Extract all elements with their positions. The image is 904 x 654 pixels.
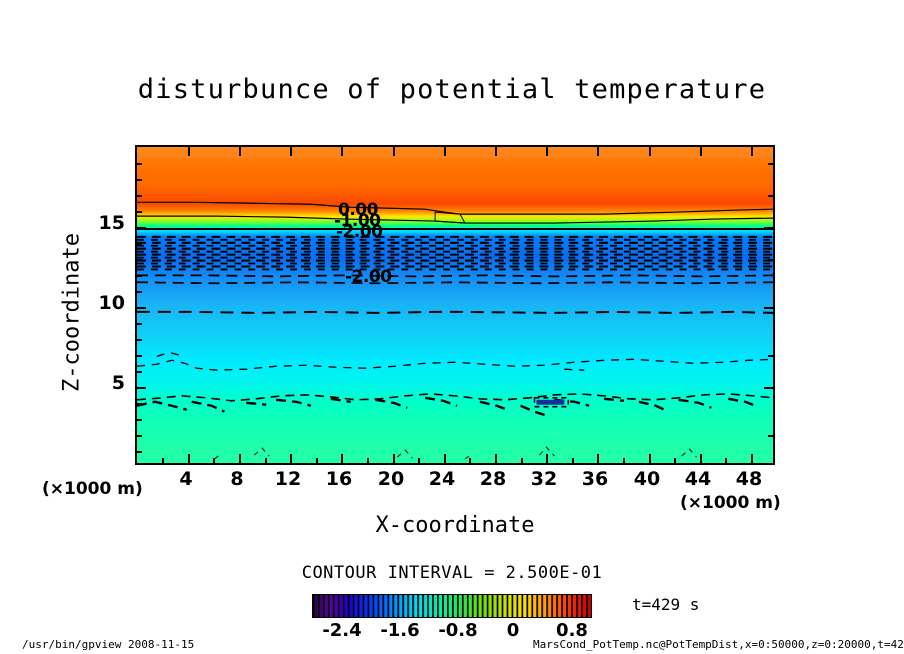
y-tick-minor <box>137 419 142 421</box>
x-tick-top <box>239 147 241 156</box>
y-tick-minor <box>137 323 142 325</box>
y-tick-label: 10 <box>95 292 125 314</box>
contour-plot-area <box>135 145 775 465</box>
x-tick-minor <box>572 458 574 463</box>
y-tick-right <box>764 227 773 229</box>
x-tick <box>700 454 702 463</box>
x-tick-top <box>546 147 548 156</box>
y-tick-minor <box>137 371 142 373</box>
y-tick-minor <box>137 211 142 213</box>
x-axis-unit: (×1000 m) <box>680 493 781 513</box>
y-tick-right-minor <box>768 195 773 197</box>
x-tick-top <box>700 147 702 156</box>
x-tick-top <box>188 147 190 156</box>
x-tick-minor <box>162 458 164 463</box>
colorbar-tick-label: -1.6 <box>370 620 430 641</box>
x-tick <box>444 454 446 463</box>
x-tick <box>188 454 190 463</box>
contour-label: -2.00 <box>336 222 383 242</box>
y-tick <box>137 227 146 229</box>
colorbar <box>312 594 592 618</box>
x-tick-minor <box>725 458 727 463</box>
x-tick-minor <box>469 458 471 463</box>
x-tick-minor <box>674 458 676 463</box>
y-tick-right-minor <box>768 435 773 437</box>
contour-interval-text: CONTOUR INTERVAL = 2.500E-01 <box>0 563 904 583</box>
x-tick <box>239 454 241 463</box>
colorbar-tick-label: -2.4 <box>312 620 372 641</box>
x-tick-top <box>751 147 753 156</box>
y-tick-minor <box>137 179 142 181</box>
y-tick-right <box>764 307 773 309</box>
x-tick-label: 16 <box>309 468 369 490</box>
y-tick-minor <box>137 435 142 437</box>
x-tick-label: 48 <box>719 468 779 490</box>
y-tick-right-minor <box>768 163 773 165</box>
colorbar-tick-label: -0.8 <box>428 620 488 641</box>
colorbar-gradient <box>312 594 592 618</box>
contour-label: -2.00 <box>345 267 392 287</box>
y-tick-minor <box>137 275 142 277</box>
footer-dataset: MarsCond_PotTemp.nc@PotTempDist,x=0:5000… <box>533 638 904 651</box>
x-tick <box>341 454 343 463</box>
x-tick-top <box>597 147 599 156</box>
time-label: t=429 s <box>632 595 699 614</box>
x-tick <box>597 454 599 463</box>
x-tick-top <box>495 147 497 156</box>
x-tick <box>393 454 395 463</box>
x-tick-top <box>393 147 395 156</box>
x-tick-top <box>649 147 651 156</box>
x-tick-top <box>290 147 292 156</box>
x-tick-top <box>341 147 343 156</box>
y-tick-minor <box>137 355 142 357</box>
y-axis-unit: (×1000 m) <box>42 479 143 499</box>
y-tick <box>137 307 146 309</box>
y-tick-right-minor <box>768 259 773 261</box>
x-tick-minor <box>521 458 523 463</box>
x-axis-title: X-coordinate <box>135 513 775 538</box>
y-tick-label: 5 <box>95 372 125 394</box>
x-tick-minor <box>623 458 625 463</box>
y-tick-minor <box>137 291 142 293</box>
y-tick-minor <box>137 339 142 341</box>
footer-command: /usr/bin/gpview 2008-11-15 <box>22 638 194 651</box>
y-tick-right <box>764 387 773 389</box>
temperature-field <box>137 147 773 463</box>
x-tick-minor <box>418 458 420 463</box>
x-tick-minor <box>367 458 369 463</box>
y-tick-right-minor <box>768 355 773 357</box>
x-tick-minor <box>265 458 267 463</box>
x-tick <box>290 454 292 463</box>
x-tick <box>649 454 651 463</box>
y-tick-minor <box>137 243 142 245</box>
x-tick-label: 36 <box>565 468 625 490</box>
x-tick-top <box>444 147 446 156</box>
y-tick-minor <box>137 163 142 165</box>
x-tick <box>546 454 548 463</box>
x-tick-minor <box>213 458 215 463</box>
x-tick <box>751 454 753 463</box>
y-tick-minor <box>137 259 142 261</box>
y-tick-minor <box>137 451 142 453</box>
y-axis-title: Z-coordinate <box>60 213 85 413</box>
y-tick <box>137 387 146 389</box>
page-title: disturbunce of potential temperature <box>0 74 904 105</box>
y-tick-label: 15 <box>95 212 125 234</box>
x-tick-minor <box>316 458 318 463</box>
x-tick <box>495 454 497 463</box>
y-tick-minor <box>137 195 142 197</box>
y-tick-minor <box>137 403 142 405</box>
